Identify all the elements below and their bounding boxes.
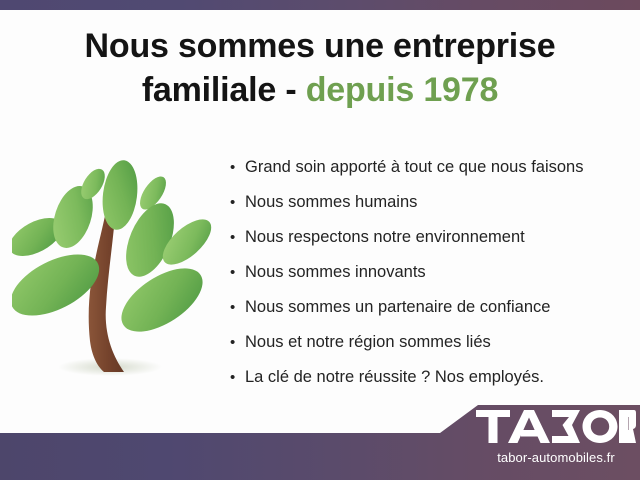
page-title: Nous sommes une entreprise familiale - d… [0,24,640,112]
slide-canvas: Nous sommes une entreprise familiale - d… [0,0,640,480]
headline-line-2: familiale - depuis 1978 [0,68,640,112]
top-accent-bar [0,0,640,10]
list-item: • La clé de notre réussite ? Nos employé… [228,360,628,395]
list-item: • Nous sommes un partenaire de confiance [228,290,628,325]
tree-illustration [12,145,222,385]
footer-bar: tabor-automobiles.fr [0,400,640,480]
headline-line-2-prefix: familiale - [142,71,297,109]
bullet-icon: • [230,325,235,360]
tree-leaves [12,158,219,344]
bullet-icon: • [230,255,235,290]
headline-line-1: Nous sommes une entreprise [85,27,556,65]
list-item-label: Nous sommes innovants [245,263,426,281]
headline-accent-year: depuis 1978 [306,71,498,109]
list-item: • Nous sommes innovants [228,255,628,290]
bullet-icon: • [230,220,235,255]
bullet-icon: • [230,150,235,185]
brand-logo: tabor-automobiles.fr [476,410,636,472]
list-item-label: La clé de notre réussite ? Nos employés. [245,368,544,386]
bullet-icon: • [230,360,235,395]
list-item: • Nous respectons notre environnement [228,220,628,255]
bullet-icon: • [230,185,235,220]
list-item: • Nous et notre région sommes liés [228,325,628,360]
list-item-label: Nous et notre région sommes liés [245,333,491,351]
brand-url: tabor-automobiles.fr [476,450,636,465]
tabor-wordmark [476,410,636,455]
list-item-label: Nous respectons notre environnement [245,228,525,246]
list-item-label: Grand soin apporté à tout ce que nous fa… [245,158,583,176]
list-item-label: Nous sommes un partenaire de confiance [245,298,550,316]
list-item-label: Nous sommes humains [245,193,417,211]
list-item: • Nous sommes humains [228,185,628,220]
benefits-list: • Grand soin apporté à tout ce que nous … [228,150,628,395]
list-item: • Grand soin apporté à tout ce que nous … [228,150,628,185]
bullet-icon: • [230,290,235,325]
